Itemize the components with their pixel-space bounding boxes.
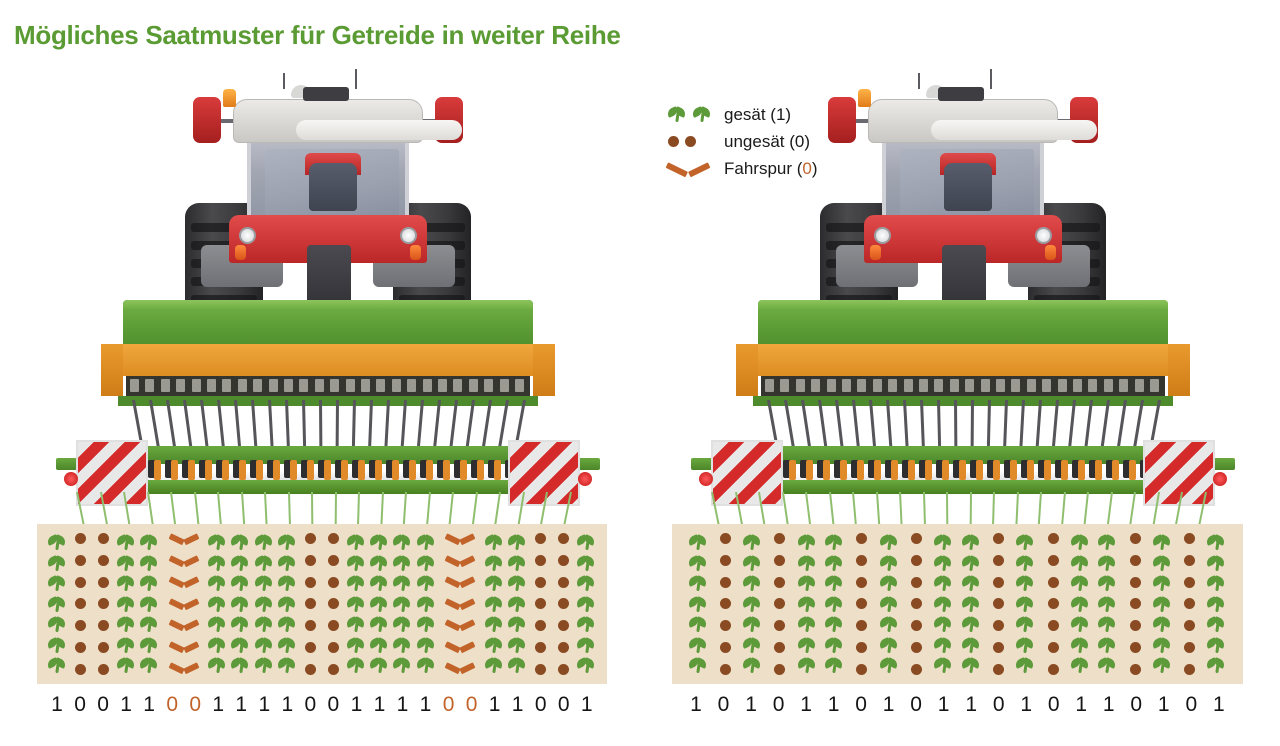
seedling-icon	[393, 554, 412, 573]
unseeded-dot-icon	[75, 555, 86, 566]
unseeded-dot-icon	[328, 642, 339, 653]
pattern-column-seeded	[959, 533, 983, 675]
bit-digit: 1	[508, 693, 528, 717]
seedling-icon	[825, 636, 844, 655]
seedling-icon	[255, 595, 274, 614]
pattern-column-unseeded	[300, 533, 320, 675]
unseeded-dot-icon	[720, 577, 731, 588]
metering-unit	[736, 344, 1190, 376]
metering-end	[101, 344, 123, 396]
seedling-icon	[1016, 636, 1035, 655]
beacon-light-icon	[858, 89, 871, 107]
bit-digit: 1	[1071, 693, 1091, 717]
bit-digit: 1	[961, 693, 981, 717]
unseeded-dot-icon	[1130, 555, 1141, 566]
seedling-icon	[485, 533, 504, 552]
unseeded-dot-icon	[75, 533, 86, 544]
pattern-column-seeded	[686, 533, 710, 675]
pattern-column-seeded	[932, 533, 956, 675]
seedling-icon	[370, 533, 389, 552]
seedling-icon	[798, 595, 817, 614]
seedling-icon	[1153, 574, 1172, 593]
tramline-chevron-icon	[171, 641, 197, 654]
unseeded-dot-icon	[75, 664, 86, 675]
unseeded-dot-icon	[774, 598, 785, 609]
marker-light-icon	[699, 472, 713, 486]
tail-light-icon	[235, 245, 246, 260]
pattern-column-unseeded	[768, 533, 792, 675]
seedling-icon	[370, 656, 389, 675]
unseeded-dot-icon	[305, 577, 316, 588]
pattern-column-seeded	[208, 533, 228, 675]
unseeded-dot-icon	[1048, 533, 1059, 544]
seedling-icon	[255, 533, 274, 552]
unseeded-dot-icon	[993, 555, 1004, 566]
seedling-icon	[577, 615, 596, 634]
seedling-icon	[1016, 595, 1035, 614]
pattern-column-unseeded	[554, 533, 574, 675]
seedling-icon	[508, 595, 527, 614]
seedling-icon	[255, 656, 274, 675]
bit-digit: 1	[116, 693, 136, 717]
unseeded-dot-icon	[993, 577, 1004, 588]
tramline-chevron-icon	[171, 662, 197, 675]
unseeded-dot-icon	[98, 555, 109, 566]
unseeded-dot-icon	[1184, 533, 1195, 544]
unseeded-dot-icon	[328, 577, 339, 588]
unseeded-dot-icon	[993, 664, 1004, 675]
beacon-light-icon	[223, 89, 236, 107]
seedling-icon	[1098, 615, 1117, 634]
seedling-icon	[370, 574, 389, 593]
seedling-icon	[208, 615, 227, 634]
seedling-icon	[689, 656, 708, 675]
pattern-column-seeded	[1096, 533, 1120, 675]
seedling-icon	[689, 636, 708, 655]
tramline-chevron-icon	[171, 576, 197, 589]
pattern-column-unseeded	[905, 533, 929, 675]
left-bit-string: 100110011110011110011001	[37, 688, 607, 722]
work-light-icon	[239, 227, 256, 244]
pattern-column-unseeded	[713, 533, 737, 675]
unseeded-dot-icon	[911, 664, 922, 675]
seedling-icon	[508, 574, 527, 593]
seedling-icon	[1098, 554, 1117, 573]
unseeded-dot-icon	[1048, 598, 1059, 609]
tramline-chevron-icon	[171, 555, 197, 568]
right-pattern-panel	[672, 524, 1243, 684]
bit-digit: 0	[1044, 693, 1064, 717]
seedling-icon	[1016, 615, 1035, 634]
unseeded-dot-icon	[911, 555, 922, 566]
unseeded-dot-icon	[558, 533, 569, 544]
seedling-icon	[485, 574, 504, 593]
bit-digit: 0	[714, 693, 734, 717]
unseeded-dot-icon	[1130, 598, 1141, 609]
tail-light-icon	[1045, 245, 1056, 260]
bit-digit: 0	[989, 693, 1009, 717]
tractor	[183, 85, 473, 320]
seedling-icon	[140, 615, 159, 634]
unseeded-dot-icon	[305, 533, 316, 544]
seedling-icon	[934, 554, 953, 573]
work-light-icon	[874, 227, 891, 244]
pattern-column-seeded	[577, 533, 597, 675]
unseeded-dot-icon	[558, 598, 569, 609]
seedling-icon	[880, 533, 899, 552]
bit-digit: 1	[47, 693, 67, 717]
seedling-icon	[689, 554, 708, 573]
unseeded-dot-icon	[98, 577, 109, 588]
seedling-icon	[1071, 554, 1090, 573]
seedling-icon	[255, 554, 274, 573]
hopper-lid	[758, 300, 1168, 309]
seedling-icon	[798, 554, 817, 573]
seedling-icon	[231, 656, 250, 675]
unseeded-dot-icon	[911, 533, 922, 544]
pattern-column-unseeded	[1041, 533, 1065, 675]
seedling-icon	[577, 574, 596, 593]
pattern-column-unseeded	[1123, 533, 1147, 675]
bit-digit: 0	[906, 693, 926, 717]
seedling-icon	[208, 554, 227, 573]
unseeded-dot-icon	[993, 598, 1004, 609]
seedling-icon	[962, 595, 981, 614]
pattern-column-seeded	[1014, 533, 1038, 675]
seedling-icon	[255, 574, 274, 593]
seedling-icon	[1071, 574, 1090, 593]
unseeded-dot-icon	[75, 642, 86, 653]
seedling-icon	[1207, 533, 1226, 552]
seedling-icon	[577, 533, 596, 552]
unseeded-dot-icon	[774, 555, 785, 566]
illustration-canvas: Mögliches Saatmuster für Getreide in wei…	[0, 0, 1280, 746]
pattern-column-seeded	[277, 533, 297, 675]
pattern-column-seeded	[1150, 533, 1174, 675]
pattern-column-seeded	[741, 533, 765, 675]
seedling-icon	[417, 595, 436, 614]
seedling-icon	[393, 533, 412, 552]
seedling-icon	[962, 615, 981, 634]
seedling-icon	[934, 615, 953, 634]
pattern-column-tramline	[163, 533, 205, 675]
gps-receiver-icon	[938, 87, 984, 101]
seedling-icon	[689, 615, 708, 634]
seedling-icon	[117, 533, 136, 552]
unseeded-dot-icon	[774, 620, 785, 631]
coulter-row	[761, 460, 1165, 482]
unseeded-dot-icon	[720, 598, 731, 609]
seedling-icon	[1207, 554, 1226, 573]
bit-digit: 1	[1016, 693, 1036, 717]
bit-digit: 1	[369, 693, 389, 717]
seedling-icon	[689, 595, 708, 614]
tramline-chevron-icon	[447, 598, 473, 611]
seedling-icon	[231, 636, 250, 655]
seedling-icon	[417, 533, 436, 552]
bit-digit: 0	[323, 693, 343, 717]
unseeded-dot-icon	[856, 642, 867, 653]
seedling-icon	[393, 636, 412, 655]
seedling-icon	[485, 636, 504, 655]
pattern-column-seeded	[795, 533, 819, 675]
metering-end	[533, 344, 555, 396]
seedling-icon	[743, 574, 762, 593]
seedling-icon	[1098, 656, 1117, 675]
seedling-icon	[255, 615, 274, 634]
unseeded-dot-icon	[993, 642, 1004, 653]
seedling-icon	[48, 636, 67, 655]
seedling-icon	[231, 533, 250, 552]
bit-digit: 1	[741, 693, 761, 717]
pattern-column-seeded	[484, 533, 504, 675]
unseeded-dot-icon	[1130, 577, 1141, 588]
seedling-icon	[1153, 615, 1172, 634]
bit-digit: 0	[300, 693, 320, 717]
bit-digit: 0	[93, 693, 113, 717]
unseeded-dot-icon	[856, 555, 867, 566]
tramline-chevron-icon	[447, 641, 473, 654]
seedling-icon	[743, 656, 762, 675]
seedling-icon	[48, 656, 67, 675]
seed-outlet-row	[761, 376, 1165, 396]
seed-outlet-row	[126, 376, 530, 396]
unseeded-dot-icon	[856, 577, 867, 588]
seedling-icon	[1207, 595, 1226, 614]
bit-digit: 1	[139, 693, 159, 717]
seedling-icon	[743, 554, 762, 573]
seedling-icon	[48, 533, 67, 552]
seedling-icon	[393, 595, 412, 614]
unseeded-dot-icon	[720, 533, 731, 544]
seedling-icon	[1207, 615, 1226, 634]
seedling-icon	[1016, 656, 1035, 675]
unseeded-dot-icon	[98, 664, 109, 675]
page-title: Mögliches Saatmuster für Getreide in wei…	[14, 20, 621, 51]
seedling-icon	[1098, 595, 1117, 614]
tramline-chevron-icon	[447, 576, 473, 589]
seedling-icon	[485, 595, 504, 614]
bit-digit: 0	[1126, 693, 1146, 717]
seedling-icon	[278, 574, 297, 593]
unseeded-dot-icon	[774, 664, 785, 675]
unseeded-dot-icon	[1184, 555, 1195, 566]
seedling-icon	[798, 533, 817, 552]
tramline-chevron-icon	[447, 619, 473, 632]
unseeded-dot-icon	[720, 642, 731, 653]
unseeded-dot-icon	[305, 598, 316, 609]
seedling-icon	[689, 574, 708, 593]
seedling-icon	[1071, 615, 1090, 634]
seedling-icon	[743, 595, 762, 614]
seedling-icon	[231, 554, 250, 573]
unseeded-dot-icon	[911, 598, 922, 609]
seedling-icon	[798, 615, 817, 634]
seedling-icon	[417, 636, 436, 655]
bit-digit: 1	[416, 693, 436, 717]
pattern-column-seeded	[393, 533, 413, 675]
left-pattern-panel	[37, 524, 607, 684]
unseeded-dot-icon	[856, 598, 867, 609]
seedling-icon	[508, 615, 527, 634]
seedling-icon	[485, 615, 504, 634]
seedling-icon	[880, 615, 899, 634]
pattern-column-seeded	[416, 533, 436, 675]
seedling-icon	[880, 656, 899, 675]
antenna-icon	[283, 73, 285, 89]
tractor-with-seed-drill-left	[38, 85, 618, 505]
bit-digit: 1	[485, 693, 505, 717]
pattern-column-seeded	[823, 533, 847, 675]
seedling-icon	[743, 533, 762, 552]
seedling-icon	[278, 595, 297, 614]
seedling-icon	[140, 595, 159, 614]
seedling-icon	[48, 595, 67, 614]
seedling-icon	[1016, 533, 1035, 552]
unseeded-dot-icon	[911, 620, 922, 631]
seedling-icon	[1207, 574, 1226, 593]
seedling-icon	[508, 554, 527, 573]
seedling-icon	[1207, 656, 1226, 675]
unseeded-dot-icon	[75, 598, 86, 609]
pattern-column-seeded	[508, 533, 528, 675]
work-light-icon	[400, 227, 417, 244]
unseeded-dot-icon	[774, 642, 785, 653]
work-light-icon	[1035, 227, 1052, 244]
cab-roof	[233, 99, 423, 143]
seedling-icon	[347, 574, 366, 593]
pattern-column-seeded	[877, 533, 901, 675]
seedling-icon	[393, 574, 412, 593]
seedling-icon	[208, 656, 227, 675]
seedling-icon	[1071, 533, 1090, 552]
pattern-column-seeded	[116, 533, 136, 675]
seedling-icon	[1071, 636, 1090, 655]
unseeded-dot-icon	[856, 664, 867, 675]
tramline-chevron-icon	[447, 555, 473, 568]
seedling-icon	[825, 615, 844, 634]
unseeded-dot-icon	[535, 620, 546, 631]
unseeded-dot-icon	[1048, 577, 1059, 588]
seedling-icon	[508, 656, 527, 675]
unseeded-dot-icon	[1130, 642, 1141, 653]
pattern-column-seeded	[47, 533, 67, 675]
seedling-icon	[485, 656, 504, 675]
tractor-seat	[309, 163, 357, 211]
seedling-icon	[934, 574, 953, 593]
cab-roof	[868, 99, 1058, 143]
marker-light-icon	[1213, 472, 1227, 486]
metering-end	[1168, 344, 1190, 396]
bit-digit: 1	[208, 693, 228, 717]
metering-end	[736, 344, 758, 396]
pattern-column-unseeded	[93, 533, 113, 675]
bit-digit: 0	[769, 693, 789, 717]
antenna-icon	[990, 69, 992, 89]
seedling-icon	[208, 636, 227, 655]
seedling-icon	[278, 656, 297, 675]
seedling-icon	[1098, 533, 1117, 552]
seedling-icon	[880, 595, 899, 614]
unseeded-dot-icon	[75, 577, 86, 588]
seedling-icon	[825, 574, 844, 593]
pattern-column-tramline	[439, 533, 481, 675]
unseeded-dot-icon	[98, 533, 109, 544]
unseeded-dot-icon	[1048, 664, 1059, 675]
seedling-icon	[689, 533, 708, 552]
seedling-icon	[117, 636, 136, 655]
unseeded-dot-icon	[1130, 620, 1141, 631]
tractor-cab	[247, 137, 409, 223]
unseeded-dot-icon	[535, 555, 546, 566]
seedling-icon	[417, 574, 436, 593]
unseeded-dot-icon	[720, 620, 731, 631]
tramline-chevron-icon	[171, 619, 197, 632]
unseeded-dot-icon	[535, 664, 546, 675]
right-bit-string: 10101101011010110101	[672, 688, 1243, 722]
seedling-icon	[140, 636, 159, 655]
seedling-icon	[347, 554, 366, 573]
unseeded-dot-icon	[305, 664, 316, 675]
seedling-icon	[825, 656, 844, 675]
seedling-icon	[743, 636, 762, 655]
seedling-icon	[48, 615, 67, 634]
bit-digit: 0	[185, 693, 205, 717]
unseeded-dot-icon	[328, 533, 339, 544]
seedling-icon	[140, 574, 159, 593]
seedling-icon	[208, 533, 227, 552]
gps-receiver-icon	[303, 87, 349, 101]
tramline-chevron-icon	[447, 662, 473, 675]
seedling-icon	[798, 636, 817, 655]
seedling-icon	[117, 615, 136, 634]
seedling-icon	[278, 636, 297, 655]
seedling-icon	[117, 656, 136, 675]
unseeded-dot-icon	[774, 577, 785, 588]
seedling-icon	[140, 656, 159, 675]
bit-digit: 0	[462, 693, 482, 717]
seed-drill	[673, 300, 1253, 500]
tail-light-icon	[870, 245, 881, 260]
seed-tubes	[126, 400, 530, 448]
seedling-icon	[347, 636, 366, 655]
tractor-mirror	[828, 97, 856, 143]
pattern-column-unseeded	[986, 533, 1010, 675]
seedling-icon	[48, 574, 67, 593]
unseeded-dot-icon	[1048, 555, 1059, 566]
seedling-icon	[1016, 574, 1035, 593]
seedling-icon	[798, 656, 817, 675]
unseeded-dot-icon	[1130, 533, 1141, 544]
seedling-icon	[208, 574, 227, 593]
bit-digit: 0	[851, 693, 871, 717]
bit-digit: 0	[531, 693, 551, 717]
seedling-icon	[1098, 636, 1117, 655]
seedling-icon	[231, 574, 250, 593]
seedling-icon	[140, 554, 159, 573]
seedling-icon	[1016, 554, 1035, 573]
seedling-icon	[962, 554, 981, 573]
seed-tubes	[761, 400, 1165, 448]
seedling-icon	[934, 636, 953, 655]
unseeded-dot-icon	[911, 577, 922, 588]
tramline-chevron-icon	[447, 533, 473, 546]
seedling-icon	[1207, 636, 1226, 655]
bit-digit: 1	[686, 693, 706, 717]
bit-digit: 1	[346, 693, 366, 717]
bit-digit: 1	[277, 693, 297, 717]
unseeded-dot-icon	[558, 664, 569, 675]
